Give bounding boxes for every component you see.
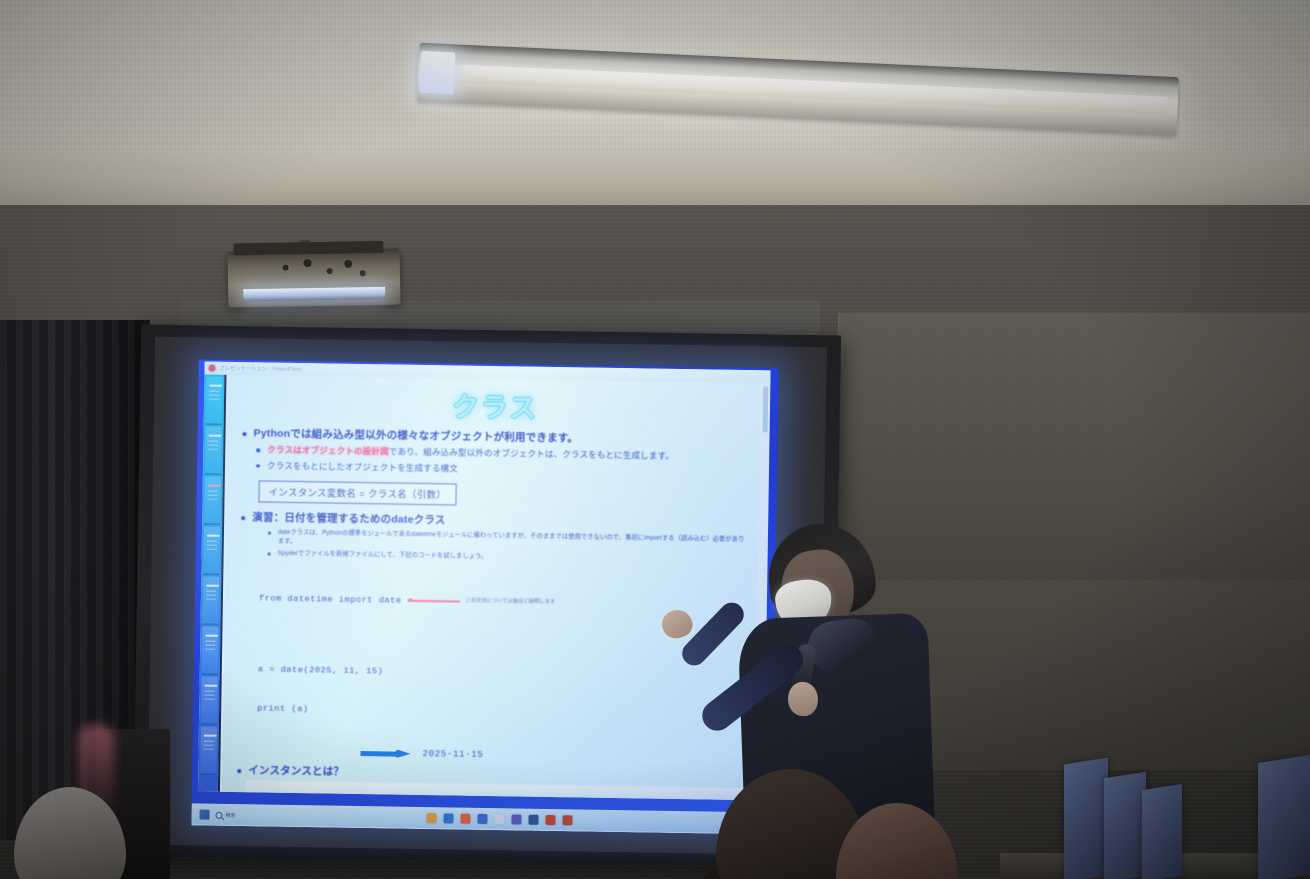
word-icon[interactable]	[528, 815, 538, 825]
result-arrow-icon	[360, 749, 412, 759]
code-import-annotation: この文法については後ほど説明します	[466, 598, 556, 607]
slide-thumbnail[interactable]	[203, 527, 220, 575]
projector-bracket	[233, 241, 383, 256]
window-title: プレゼンテーション - PowerPoint	[219, 365, 301, 373]
slide-thumbnail[interactable]	[205, 427, 222, 475]
code-line: a = date(2025, 11, 15)	[258, 663, 748, 684]
spyder-icon[interactable]	[562, 815, 572, 825]
classroom-chair	[1064, 758, 1108, 879]
slide-thumbnail[interactable]	[206, 377, 223, 425]
firefox-icon[interactable]	[460, 814, 470, 824]
powerpoint-window[interactable]: プレゼンテーション - PowerPoint クラス	[198, 362, 771, 801]
store-icon[interactable]	[494, 814, 504, 824]
code-import-line: from datetime import date	[259, 592, 402, 607]
slide-title: クラス	[238, 382, 753, 429]
teams-icon[interactable]	[511, 814, 521, 824]
search-placeholder: 検索	[225, 811, 235, 818]
syntax-box: インスタンス変数名 = クラス名（引数）	[258, 481, 456, 506]
code-line: print (a)	[257, 702, 747, 723]
classroom-chair	[1142, 784, 1182, 879]
powerpoint-icon[interactable]	[545, 815, 555, 825]
start-button-icon[interactable]	[199, 810, 209, 820]
file-explorer-icon[interactable]	[426, 813, 436, 823]
search-icon	[215, 811, 222, 818]
code-output-row: 2025-11-15	[360, 748, 746, 764]
code-block: from datetime import date この文法については後ほど説明…	[257, 566, 750, 748]
bullet-level2-rest: であり、組み込み型以外のオブジェクトは、クラスをもとに生成します。	[389, 447, 674, 461]
projector-lens	[243, 287, 385, 301]
annotation-arrow-icon	[408, 600, 460, 602]
edge-browser-icon[interactable]	[443, 813, 453, 823]
scrollbar-thumb[interactable]	[763, 386, 769, 432]
record-indicator-icon	[208, 365, 215, 372]
code-output: 2025-11-15	[422, 749, 483, 760]
lecture-hall-photo: プレゼンテーション - PowerPoint クラス	[0, 0, 1310, 879]
ceiling-soffit	[0, 150, 1310, 210]
slide-thumbnail[interactable]	[203, 577, 220, 625]
taskbar-icon-group	[426, 813, 572, 825]
mail-icon[interactable]	[477, 814, 487, 824]
classroom-chair	[1258, 755, 1310, 879]
slide-thumbnail[interactable]	[204, 477, 221, 525]
ceiling-projector-icon	[228, 249, 401, 308]
slide-thumbnail[interactable]	[200, 727, 217, 775]
slide-canvas[interactable]: クラス Pythonでは組み込み型以外の様々なオブジェクトが利用できます。 クラ…	[222, 375, 760, 800]
slide-thumbnail[interactable]	[201, 677, 218, 725]
highlight-text: クラスはオブジェクトの設計図	[267, 445, 389, 457]
bullet-level2: クラスをもとにしたオブジェクトを生成する構文	[251, 460, 751, 479]
projector-vents	[266, 255, 376, 285]
classroom-chair	[1104, 772, 1146, 879]
slide-thumbnail[interactable]	[202, 627, 219, 675]
taskbar-search[interactable]: 検索	[215, 811, 235, 818]
